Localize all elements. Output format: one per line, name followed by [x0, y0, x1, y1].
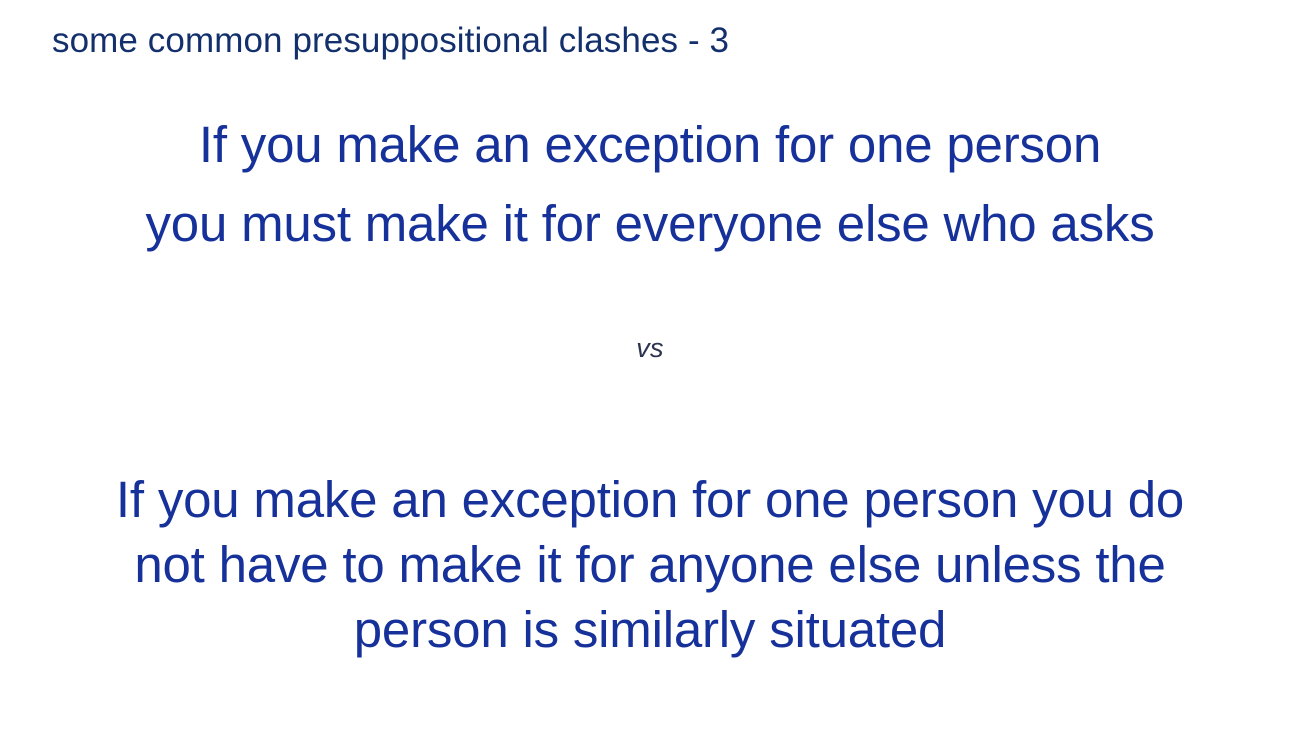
statement-two-line-2: not have to make it for anyone else unle… — [30, 533, 1270, 598]
statement-one-line-2: you must make it for everyone else who a… — [50, 184, 1250, 263]
versus-separator: vs — [0, 333, 1300, 364]
statement-one-block: If you make an exception for one person … — [50, 105, 1250, 263]
slide-canvas: some common presuppositional clashes - 3… — [0, 0, 1300, 731]
statement-two-line-1: If you make an exception for one person … — [30, 468, 1270, 533]
statement-two-block: If you make an exception for one person … — [30, 468, 1270, 662]
statement-two-line-3: person is similarly situated — [30, 598, 1270, 663]
statement-one-line-1: If you make an exception for one person — [50, 105, 1250, 184]
page-title: some common presuppositional clashes - 3 — [52, 20, 1252, 61]
